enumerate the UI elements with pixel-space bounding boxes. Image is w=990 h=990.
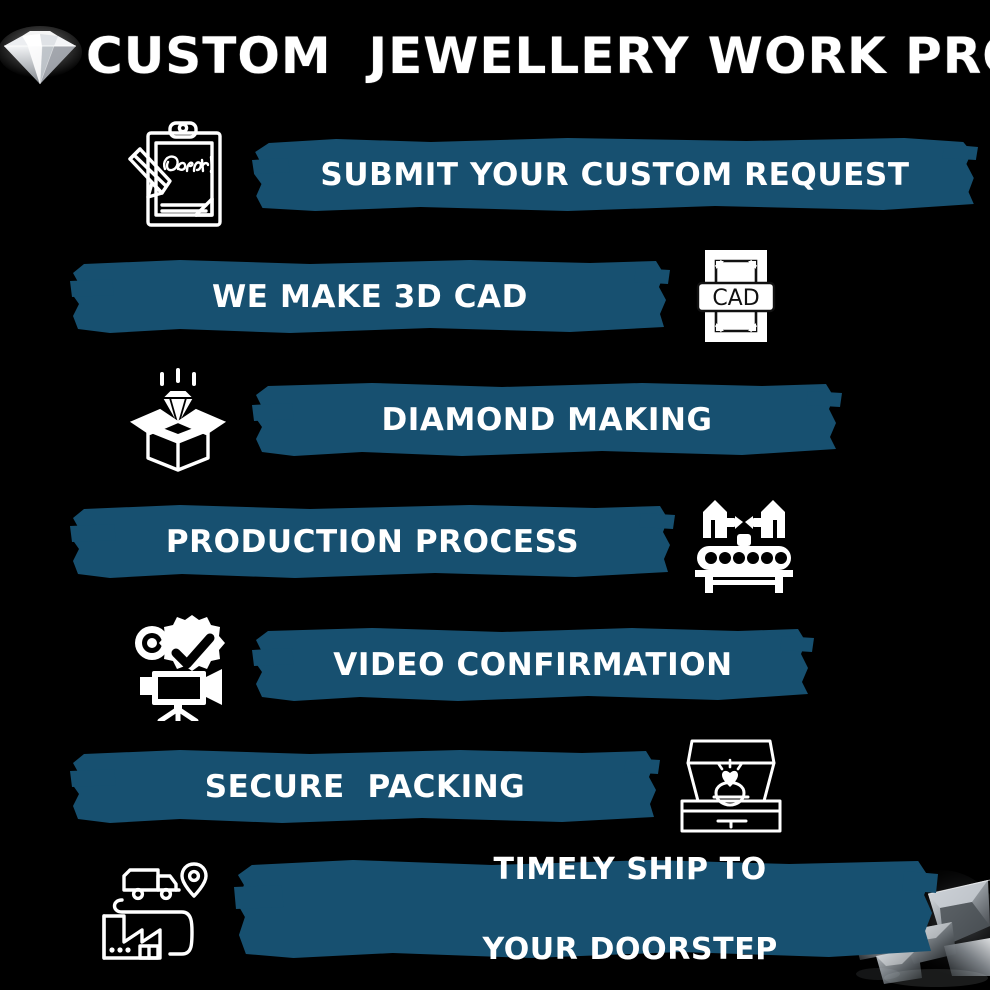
process-step-2[interactable]: WE MAKE 3D CAD CAD <box>0 237 990 357</box>
step-2-label: WE MAKE 3D CAD <box>186 280 554 314</box>
cad-icon-text: CAD <box>712 286 759 311</box>
factory-truck-delivery-icon <box>96 854 220 966</box>
step-7-banner[interactable]: TIMELY SHIP TO YOUR DOORSTEP <box>234 855 938 965</box>
step-2-banner[interactable]: WE MAKE 3D CAD <box>70 256 670 338</box>
step-6-label: SECURE PACKING <box>179 770 552 804</box>
step-7-label-line1: TIMELY SHIP TO <box>494 852 767 887</box>
process-step-7[interactable]: TIMELY SHIP TO YOUR DOORSTEP <box>0 847 990 972</box>
step-4-label: PRODUCTION PROCESS <box>140 525 605 559</box>
step-3-label: DIAMOND MAKING <box>355 403 738 437</box>
step-1-label: SUBMIT YOUR CUSTOM REQUEST <box>294 158 935 192</box>
step-7-label: TIMELY SHIP TO YOUR DOORSTEP <box>368 810 804 990</box>
process-steps-list: SUBMIT YOUR CUSTOM REQUEST WE MAKE 3D CA… <box>0 112 990 972</box>
process-step-5[interactable]: VIDEO CONFIRMATION <box>0 602 990 727</box>
process-step-3[interactable]: DIAMOND MAKING <box>0 357 990 482</box>
process-step-1[interactable]: SUBMIT YOUR CUSTOM REQUEST <box>0 112 990 237</box>
clipboard-order-pencil-icon <box>118 119 238 231</box>
process-step-4[interactable]: PRODUCTION PROCESS <box>0 482 990 602</box>
header: CUSTOM JEWELLERY WORK PROCESS <box>0 0 990 112</box>
step-3-banner[interactable]: DIAMOND MAKING <box>252 379 842 461</box>
step-7-label-line2: YOUR DOORSTEP <box>482 932 777 967</box>
conveyor-robot-arms-icon <box>689 490 799 594</box>
page-title: CUSTOM JEWELLERY WORK PROCESS <box>86 31 990 81</box>
step-4-banner[interactable]: PRODUCTION PROCESS <box>70 501 675 583</box>
step-5-banner[interactable]: VIDEO CONFIRMATION <box>252 624 814 706</box>
open-box-diamond-icon <box>118 364 238 476</box>
step-1-banner[interactable]: SUBMIT YOUR CUSTOM REQUEST <box>252 134 978 216</box>
step-5-label: VIDEO CONFIRMATION <box>307 648 758 682</box>
video-camera-check-icon <box>118 609 238 721</box>
cad-document-icon: CAD <box>684 245 788 349</box>
